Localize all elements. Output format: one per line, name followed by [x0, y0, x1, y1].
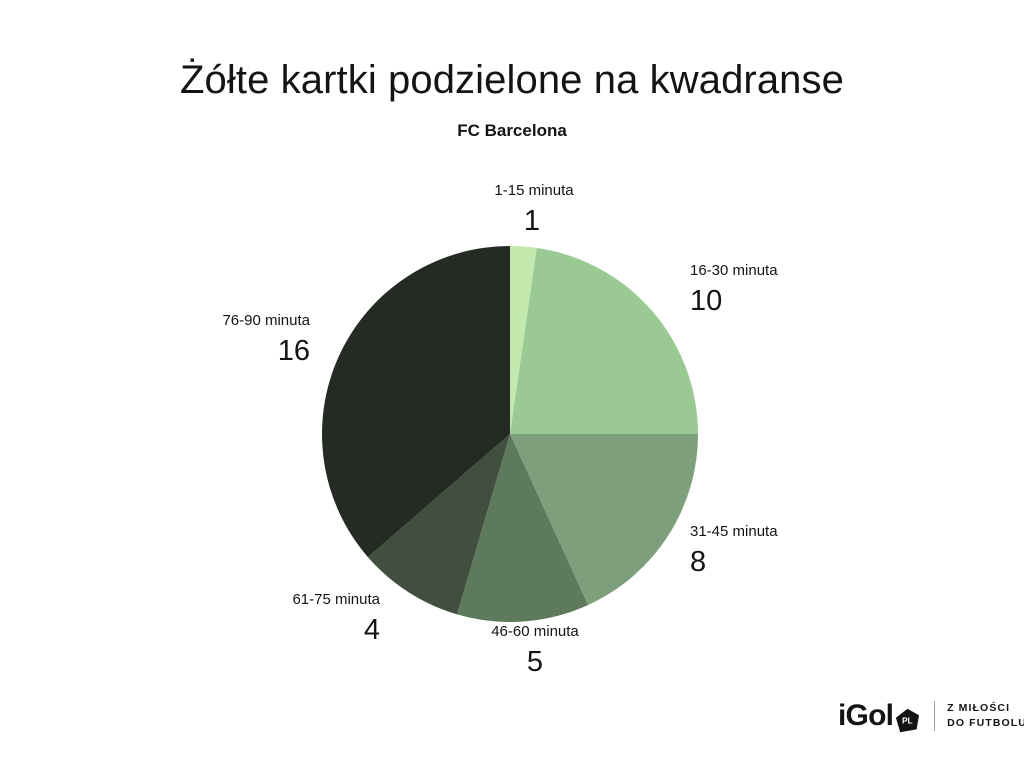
- pentagon-pl-badge-icon: PL: [895, 708, 920, 733]
- pie-label-category: 1-15 minuta: [430, 183, 638, 198]
- pie-label-value: 4: [180, 616, 380, 645]
- pie-chart-figure: Żółte kartki podzielone na kwadranse FC …: [0, 0, 1024, 768]
- logo-wordmark: iGol: [838, 701, 893, 731]
- pie-svg: [322, 246, 698, 622]
- chart-subtitle: FC Barcelona: [0, 121, 1024, 141]
- chart-title: Żółte kartki podzielone na kwadranse: [0, 58, 1024, 103]
- logo-tagline-line2: DO FUTBOLU: [947, 716, 1024, 731]
- brand-logo: iGol PL Z MIŁOŚCI DO FUTBOLU: [838, 694, 1024, 738]
- pie-label-category: 31-45 minuta: [690, 524, 910, 539]
- logo-tagline: Z MIŁOŚCI DO FUTBOLU: [947, 701, 1024, 731]
- pie-label-16-30: 16-30 minuta 10: [690, 263, 910, 316]
- pie-label-value: 8: [690, 548, 910, 577]
- pie-label-category: 61-75 minuta: [180, 592, 380, 607]
- logo-tagline-line1: Z MIŁOŚCI: [947, 701, 1024, 716]
- pie-label-value: 1: [426, 207, 638, 236]
- pie-label-value: 5: [385, 648, 685, 677]
- pie-label-category: 46-60 minuta: [385, 624, 685, 639]
- logo-divider: [934, 701, 935, 731]
- pie-graphic: [322, 246, 698, 622]
- logo-mark: iGol PL: [838, 699, 920, 733]
- pie-label-value: 10: [690, 287, 910, 316]
- pie-label-1-15: 1-15 minuta 1: [430, 183, 638, 236]
- pie-label-46-60: 46-60 minuta 5: [385, 624, 685, 677]
- pie-label-category: 76-90 minuta: [105, 313, 310, 328]
- pie-slice: [510, 248, 698, 434]
- pie-label-31-45: 31-45 minuta 8: [690, 524, 910, 577]
- pie-label-value: 16: [105, 337, 310, 366]
- pie-label-76-90: 76-90 minuta 16: [105, 313, 310, 366]
- svg-text:PL: PL: [902, 715, 913, 725]
- pie-label-category: 16-30 minuta: [690, 263, 910, 278]
- pie-label-61-75: 61-75 minuta 4: [180, 592, 380, 645]
